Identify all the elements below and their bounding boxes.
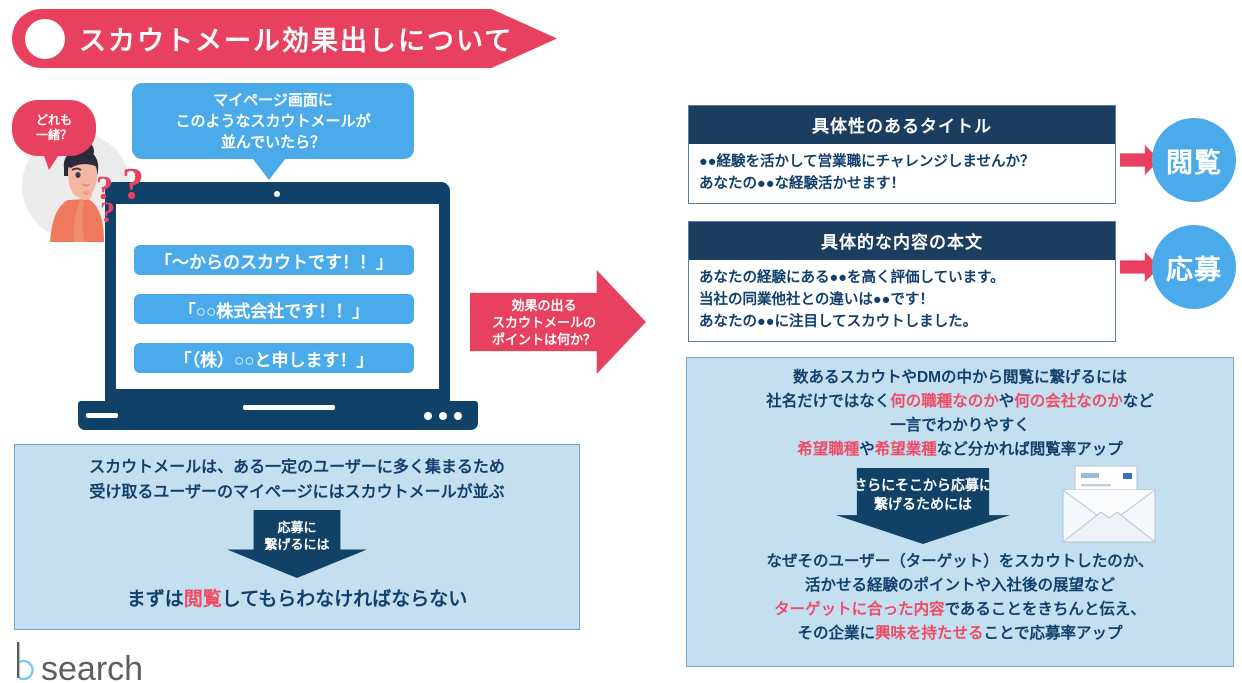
mypage-callout-bubble: マイページ画面に このようなスカウトメールが 並んでいたら？	[132, 83, 414, 159]
result-badge-view: 閲覧	[1152, 118, 1236, 202]
left-conclusion: まずは閲覧してもらわなければならない	[15, 584, 579, 611]
result-badge-view-label: 閲覧	[1166, 141, 1222, 180]
card-1-line-1: ●●経験を活かして営業職にチャレンジしませんか？	[699, 151, 1105, 173]
envelope-icon	[1057, 464, 1161, 546]
right-panel-top-block: 数あるスカウトやDMの中から閲覧に繋げるには 社名だけではなく何の職種なのかや何…	[687, 358, 1233, 462]
right-panel-bottom-block: なぜそのユーザー（ターゲット）をスカウトしたのか、 活かせる経験のポイントや入社…	[687, 548, 1233, 646]
rt2-s2: や	[999, 393, 1015, 410]
rt2-s3: 何の会社なのか	[1014, 393, 1123, 410]
callout-line-3: 並んでいたら？	[221, 132, 325, 153]
brand-logo: search	[14, 640, 143, 683]
card-2-heading: 具体的な内容の本文	[689, 222, 1115, 260]
card-2-line-1: あなたの経験にある●●を高く評価しています。	[699, 267, 1105, 289]
right-top-line-4: 希望職種や希望業種など分かれば閲覧率アップ	[687, 438, 1233, 462]
slide-canvas: スカウトメール効果出しについて どれも 一緒？ ? ? ? マイページ画面に	[0, 0, 1242, 683]
right-top-line-1: 数あるスカウトやDMの中から閲覧に繋げるには	[687, 366, 1233, 390]
right-explanation-panel: 数あるスカウトやDMの中から閲覧に繋げるには 社名だけではなく何の職種なのかや何…	[686, 357, 1234, 667]
rt2-s0: 社名だけではなく	[766, 393, 890, 410]
rt2-s4: など	[1123, 393, 1154, 410]
rb3-s0: ターゲットに合った内容	[774, 601, 945, 618]
right-top-line-3: 一言でわかりやすく	[687, 414, 1233, 438]
scout-mail-item-2: 「○○株式会社です！！」	[134, 294, 414, 324]
callout-line-1: マイページ画面に	[213, 90, 333, 111]
right-bottom-line-1: なぜそのユーザー（ターゲット）をスカウトしたのか、	[687, 550, 1233, 574]
left-summary-line-1: スカウトメールは、ある一定のユーザーに多く集まるため	[15, 445, 579, 480]
logo-b-icon	[14, 640, 40, 680]
callout-bubble-tail-icon	[252, 158, 286, 180]
question-mark-icon-3: ?	[100, 196, 115, 230]
left-conclusion-before: まずは	[127, 589, 184, 610]
page-title: スカウトメール効果出しについて	[79, 19, 513, 58]
transition-arrow-line-2: スカウトメールの	[492, 314, 596, 331]
rt2-s1: 何の職種なのか	[890, 393, 999, 410]
card-2-body: あなたの経験にある●●を高く評価しています。 当社の同業他社との違いは●●です！…	[689, 260, 1115, 341]
persona-bubble-line-2: 一緒？	[36, 128, 72, 143]
right-top-line-2: 社名だけではなく何の職種なのかや何の会社なのかなど	[687, 390, 1233, 414]
card-2-line-3: あなたの●●に注目してスカウトしました。	[699, 311, 1105, 333]
question-mark-icon-1: ?	[122, 158, 144, 209]
card-1-heading: 具体性のあるタイトル	[689, 106, 1115, 144]
rb4-s2: ことで応募率アップ	[983, 625, 1122, 642]
laptop-trackpad	[243, 405, 335, 410]
persona-speech-bubble: どれも 一緒？	[12, 100, 96, 156]
logo-wordmark: search	[41, 650, 143, 683]
right-down-arrow: さらにそこから応募に 繋げるためには	[836, 468, 1010, 544]
scout-mail-label-1: 「～からのスカウトです！！」	[155, 248, 393, 273]
left-conclusion-highlight: 閲覧	[184, 589, 222, 610]
rt4-s2: 希望業種	[875, 441, 937, 458]
left-summary-line-2: 受け取るユーザーのマイページにはスカウトメールが並ぶ	[15, 480, 579, 505]
result-badge-apply-label: 応募	[1166, 248, 1222, 287]
rb4-s1: 興味を持たせる	[875, 625, 984, 642]
header-banner: スカウトメール効果出しについて	[12, 9, 557, 68]
persona-bubble-line-1: どれも	[36, 113, 72, 128]
rb4-s0: その企業に	[797, 625, 875, 642]
scout-mail-label-3: 「（株）○○と申します！」	[174, 346, 373, 371]
left-conclusion-after: してもらわなければならない	[222, 589, 467, 610]
result-badge-apply: 応募	[1152, 225, 1236, 309]
right-bottom-line-2: 活かせる経験のポイントや入社後の展望など	[687, 574, 1233, 598]
laptop-camera-icon	[274, 191, 280, 197]
left-summary-panel: スカウトメールは、ある一定のユーザーに多く集まるため 受け取るユーザーのマイペー…	[14, 444, 580, 630]
rt4-s3: など分かれば閲覧率アップ	[937, 441, 1123, 458]
card-1-body: ●●経験を活かして営業職にチャレンジしませんか？ あなたの●●な経験活かせます！	[689, 144, 1115, 203]
left-down-arrow-line-1: 応募に	[227, 510, 367, 536]
laptop-base	[78, 401, 478, 430]
scout-mail-item-3: 「（株）○○と申します！」	[134, 343, 414, 373]
transition-arrow-pink: 効果の出る スカウトメールの ポイントは何か？	[470, 270, 646, 374]
card-body-example: 具体的な内容の本文 あなたの経験にある●●を高く評価しています。 当社の同業他社…	[688, 221, 1116, 342]
transition-arrow-line-3: ポイントは何か？	[492, 331, 596, 348]
scout-mail-item-1: 「～からのスカウトです！！」	[134, 245, 414, 275]
right-bottom-line-4: その企業に興味を持たせることで応募率アップ	[687, 622, 1233, 646]
rb3-s1: であることをきちんと伝え、	[945, 601, 1146, 618]
banner-circle-icon	[25, 19, 65, 59]
left-down-arrow-line-2: 繋げるには	[227, 536, 367, 553]
callout-line-2: このようなスカウトメールが	[175, 111, 370, 132]
left-down-arrow: 応募に 繋げるには	[227, 510, 367, 578]
card-1-line-2: あなたの●●な経験活かせます！	[699, 173, 1105, 195]
right-down-arrow-line-1: さらにそこから応募に	[836, 468, 1010, 495]
laptop-base-dots	[424, 412, 462, 420]
transition-arrow-line-1: 効果の出る	[492, 297, 596, 314]
card-title-example: 具体性のあるタイトル ●●経験を活かして営業職にチャレンジしませんか？ あなたの…	[688, 105, 1116, 204]
right-bottom-line-3: ターゲットに合った内容であることをきちんと伝え、	[687, 598, 1233, 622]
laptop-base-left-line	[86, 413, 118, 418]
right-down-arrow-line-2: 繋げるためには	[836, 495, 1010, 514]
rt4-s0: 希望職種	[797, 441, 859, 458]
card-2-line-2: 当社の同業他社との違いは●●です！	[699, 289, 1105, 311]
scout-mail-label-2: 「○○株式会社です！！」	[179, 297, 370, 322]
rt4-s1: や	[859, 441, 875, 458]
right-panel-middle-row: さらにそこから応募に 繋げるためには	[687, 462, 1233, 548]
